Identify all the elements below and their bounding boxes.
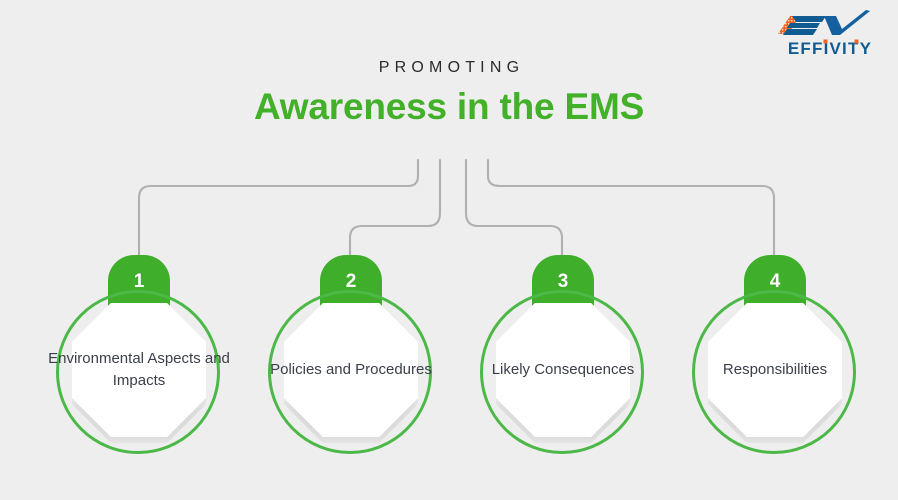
node-2[interactable]: 2 Policies and Procedures (268, 255, 434, 455)
kicker-text: PROMOTING (0, 60, 898, 76)
connector-path-1 (139, 160, 418, 258)
page-title: Awareness in the EMS (0, 86, 898, 127)
connector-path-4 (488, 160, 774, 258)
node-1-label: Environmental Aspects and Impacts (46, 303, 232, 437)
node-4-label: Responsibilities (682, 303, 868, 437)
effivity-logo-svg: EFFIVITY (770, 8, 890, 60)
header: PROMOTING Awareness in the EMS (0, 60, 898, 127)
wordmark-dot-i2 (855, 40, 859, 44)
wordmark-dot-i1 (824, 40, 828, 44)
ev-mark-icon (778, 10, 870, 35)
effivity-wordmark: EFFIVITY (788, 39, 872, 58)
connector-path-2 (350, 160, 440, 258)
node-3-label: Likely Consequences (470, 303, 656, 437)
connector-path-3 (466, 160, 562, 258)
node-2-label: Policies and Procedures (258, 303, 444, 437)
node-1[interactable]: 1 Environmental Aspects and Impacts (56, 255, 222, 455)
effivity-logo: EFFIVITY (770, 8, 890, 60)
infographic-canvas: EFFIVITY PROMOTING Awareness in the EMS … (0, 0, 898, 500)
node-4[interactable]: 4 Responsibilities (692, 255, 858, 455)
node-3[interactable]: 3 Likely Consequences (480, 255, 646, 455)
